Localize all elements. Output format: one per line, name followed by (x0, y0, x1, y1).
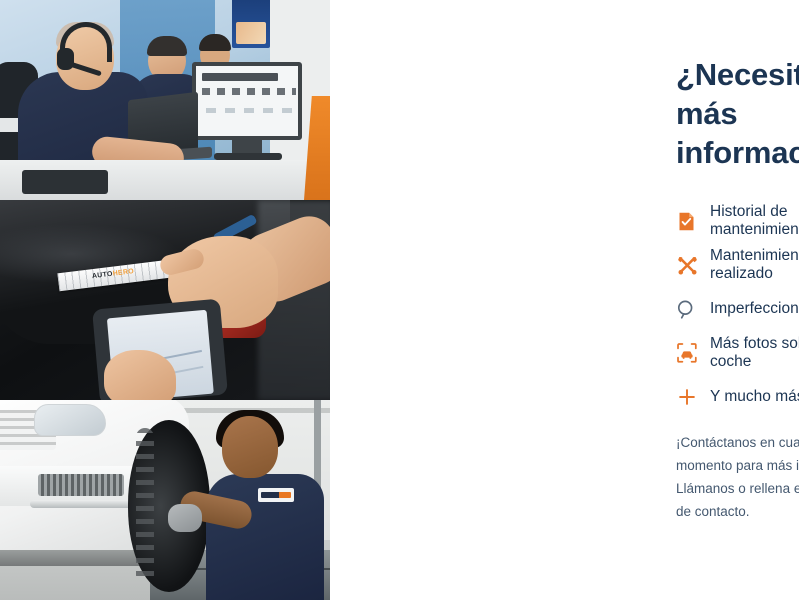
contact-line2: Llámanos o rellena el formulario de cont… (676, 478, 799, 524)
photo-column: AUTOHERO (0, 0, 330, 600)
promo-banner: AUTOHERO ¿Necesitas más información? (0, 0, 799, 600)
magnifier-icon (676, 299, 710, 320)
photo-call-center-agent (0, 0, 330, 200)
tools-cross-icon (676, 254, 710, 277)
feature-item-maintenance-done: Mantenimiento realizado (676, 250, 799, 280)
car-photo-icon (676, 342, 710, 364)
document-check-icon (676, 211, 710, 232)
page-title: ¿Necesitas más información? (676, 56, 799, 172)
feature-list: Historial de mantenimientos M (676, 206, 799, 412)
photo-car-inspection: AUTOHERO (0, 200, 330, 400)
page-title-line1: ¿Necesitas (676, 57, 799, 92)
plus-icon (676, 386, 710, 408)
feature-label: Historial de mantenimientos (710, 203, 799, 239)
feature-label: Imperfecciones (710, 300, 799, 318)
content-panel: ¿Necesitas más información? Historial de… (330, 0, 799, 600)
feature-label: Y mucho más (710, 388, 799, 406)
feature-item-imperfections: Imperfecciones (676, 294, 799, 324)
feature-item-maintenance-history: Historial de mantenimientos (676, 206, 799, 236)
page-title-line2: más información? (676, 95, 799, 173)
photo-tire-inspection (0, 400, 330, 600)
contact-line1: ¡Contáctanos en cualquier momento para m… (676, 432, 799, 478)
feature-item-more-photos: Más fotos sobre el coche (676, 338, 799, 368)
contact-text: ¡Contáctanos en cualquier momento para m… (676, 432, 799, 524)
feature-item-much-more: Y mucho más (676, 382, 799, 412)
feature-label: Mantenimiento realizado (710, 247, 799, 283)
feature-label: Más fotos sobre el coche (710, 335, 799, 371)
